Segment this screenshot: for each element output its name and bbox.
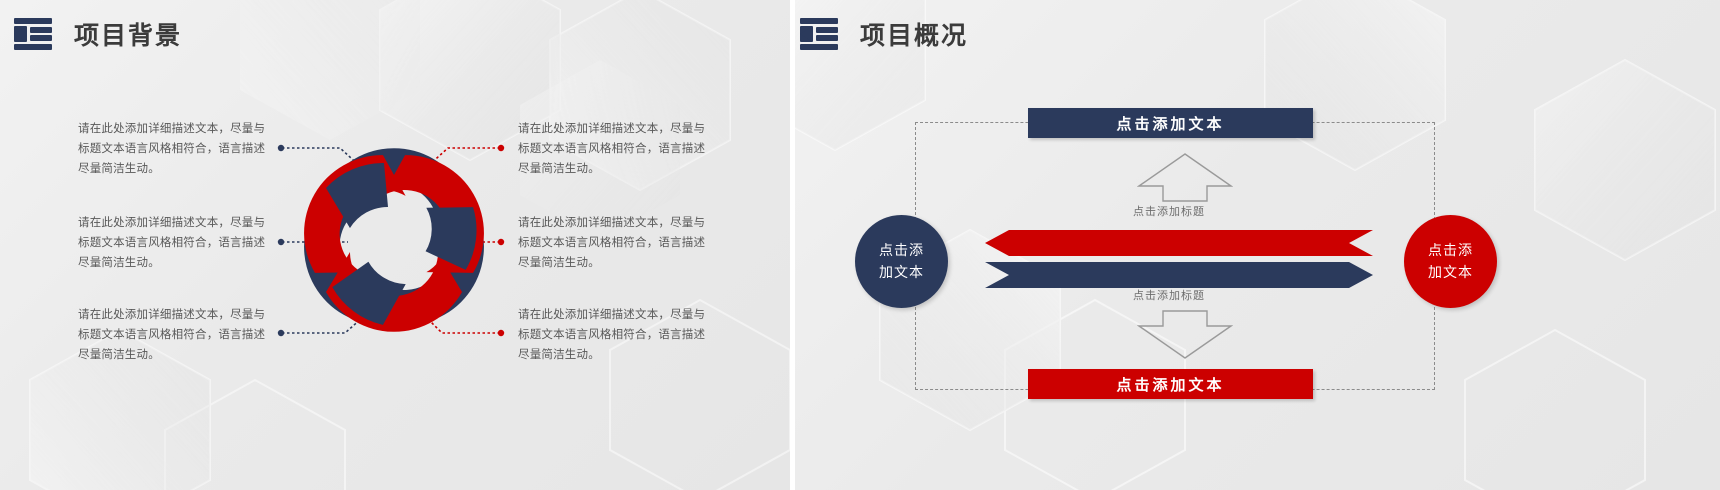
down-arrow-outline-icon [1137, 310, 1233, 360]
description-text-left-1: 请在此处添加详细描述文本，尽量与标题文本语言风格相符合，语言描述尽量简洁生动。 [78, 118, 274, 178]
page-title-right: 项目概况 [860, 16, 968, 52]
description-text-left-2: 请在此处添加详细描述文本，尽量与标题文本语言风格相符合，语言描述尽量简洁生动。 [78, 212, 274, 272]
right-circle-red[interactable]: 点击添 加文本 [1404, 215, 1497, 308]
right-pointing-navy-arrow[interactable] [985, 262, 1373, 288]
slide-project-background: 项目背景 [0, 0, 790, 490]
description-text-right-3: 请在此处添加详细描述文本，尽量与标题文本语言风格相符合，语言描述尽量简洁生动。 [518, 304, 714, 364]
description-text-right-2: 请在此处添加详细描述文本，尽量与标题文本语言风格相符合，语言描述尽量简洁生动。 [518, 212, 714, 272]
bottom-text-bar[interactable]: 点击添加文本 [1028, 369, 1313, 399]
decrease-indent-icon-right [800, 18, 838, 50]
interlocking-hexagon-knot-logo [294, 140, 494, 340]
left-circle-line-2: 加文本 [865, 262, 939, 284]
slide-header-left: 项目背景 [14, 16, 182, 52]
up-arrow-outline-icon [1137, 152, 1233, 202]
slide-header-right: 项目概况 [800, 16, 968, 52]
upper-arrow-caption: 点击添加标题 [1133, 203, 1205, 219]
left-pointing-red-arrow[interactable] [985, 230, 1373, 256]
description-text-right-1: 请在此处添加详细描述文本，尽量与标题文本语言风格相符合，语言描述尽量简洁生动。 [518, 118, 714, 178]
description-text-left-3: 请在此处添加详细描述文本，尽量与标题文本语言风格相符合，语言描述尽量简洁生动。 [78, 304, 274, 364]
decrease-indent-icon [14, 18, 52, 50]
right-circle-line-2: 加文本 [1414, 262, 1488, 284]
lower-arrow-caption: 点击添加标题 [1133, 287, 1205, 303]
right-circle-line-1: 点击添 [1414, 240, 1488, 262]
page-title-left: 项目背景 [74, 16, 182, 52]
left-circle-navy[interactable]: 点击添 加文本 [855, 215, 948, 308]
slide-deck-canvas: 项目背景 [0, 0, 1720, 490]
left-circle-line-1: 点击添 [865, 240, 939, 262]
top-text-bar[interactable]: 点击添加文本 [1028, 108, 1313, 138]
